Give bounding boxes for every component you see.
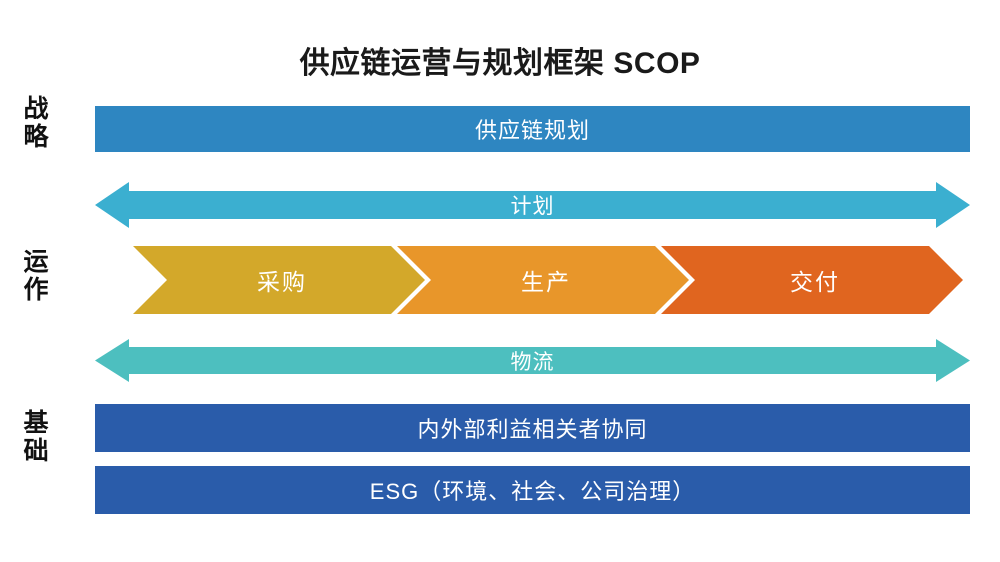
tier-label-strategy-char2: 略 xyxy=(8,123,64,151)
tier-label-operations: 运 作 xyxy=(8,248,64,304)
arrow-band-plan[interactable]: 计划 xyxy=(95,181,970,229)
process-chevron-row: 采购 生产 交付 xyxy=(133,246,963,314)
process-step-sourcing[interactable]: 采购 xyxy=(133,246,425,314)
tier-label-foundation: 基 础 xyxy=(8,409,64,465)
page-title: 供应链运营与规划框架 SCOP xyxy=(0,38,1000,82)
tier-label-foundation-char2: 础 xyxy=(8,437,64,465)
process-step-delivery[interactable]: 交付 xyxy=(661,246,963,314)
process-step-sourcing-label: 采购 xyxy=(257,263,307,297)
process-step-making[interactable]: 生产 xyxy=(397,246,689,314)
arrow-band-logistics[interactable]: 物流 xyxy=(95,338,970,383)
arrow-band-plan-label: 计划 xyxy=(511,190,555,220)
process-step-making-label: 生产 xyxy=(521,263,571,297)
arrow-band-logistics-label: 物流 xyxy=(511,346,555,376)
process-step-delivery-label: 交付 xyxy=(790,263,840,297)
bar-supply-chain-planning[interactable]: 供应链规划 xyxy=(95,106,970,152)
tier-label-foundation-char1: 基 xyxy=(8,409,64,437)
diagram-canvas: 供应链运营与规划框架 SCOP 战 略 运 作 基 础 供应链规划 计划 采购 xyxy=(0,0,1000,562)
tier-label-strategy: 战 略 xyxy=(8,95,64,151)
bar-esg[interactable]: ESG（环境、社会、公司治理） xyxy=(95,466,970,514)
tier-label-operations-char2: 作 xyxy=(8,276,64,304)
tier-label-operations-char1: 运 xyxy=(8,248,64,276)
bar-stakeholder-collaboration[interactable]: 内外部利益相关者协同 xyxy=(95,404,970,452)
tier-label-strategy-char1: 战 xyxy=(8,95,64,123)
